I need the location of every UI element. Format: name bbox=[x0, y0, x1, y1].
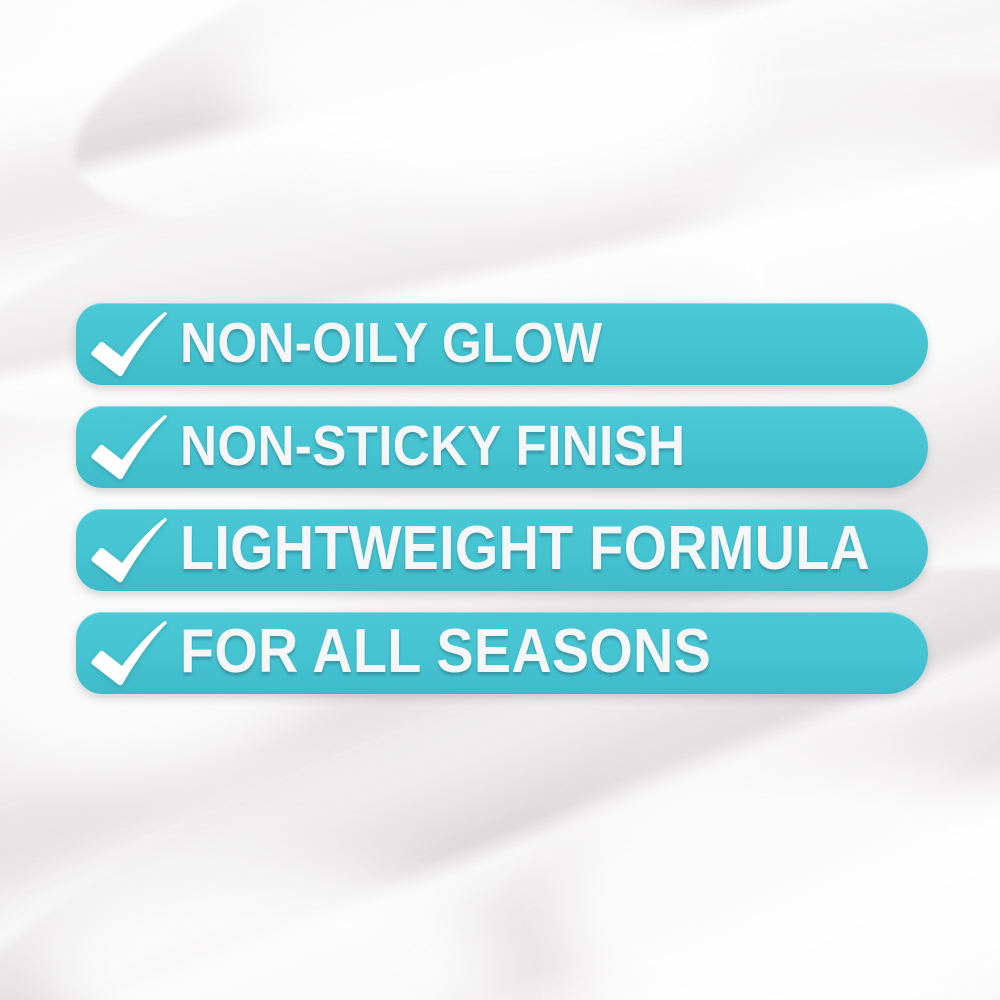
benefit-banner-list: NON-OILY GLOW NON-STICKY FINISH LIGHTWEI… bbox=[76, 303, 928, 694]
product-benefits-graphic: NON-OILY GLOW NON-STICKY FINISH LIGHTWEI… bbox=[0, 0, 1000, 1000]
checkmark-icon bbox=[76, 303, 180, 385]
benefit-label: FOR ALL SEASONS bbox=[180, 621, 711, 683]
checkmark-icon bbox=[76, 509, 180, 591]
benefit-banner: LIGHTWEIGHT FORMULA bbox=[76, 509, 928, 591]
benefit-banner: NON-STICKY FINISH bbox=[76, 406, 928, 488]
benefit-banner: NON-OILY GLOW bbox=[76, 303, 928, 385]
checkmark-icon bbox=[76, 406, 180, 488]
benefit-banner: FOR ALL SEASONS bbox=[76, 612, 928, 694]
benefit-label: LIGHTWEIGHT FORMULA bbox=[180, 518, 870, 580]
benefit-label: NON-OILY GLOW bbox=[180, 315, 602, 372]
benefit-label: NON-STICKY FINISH bbox=[180, 418, 685, 475]
checkmark-icon bbox=[76, 612, 180, 694]
